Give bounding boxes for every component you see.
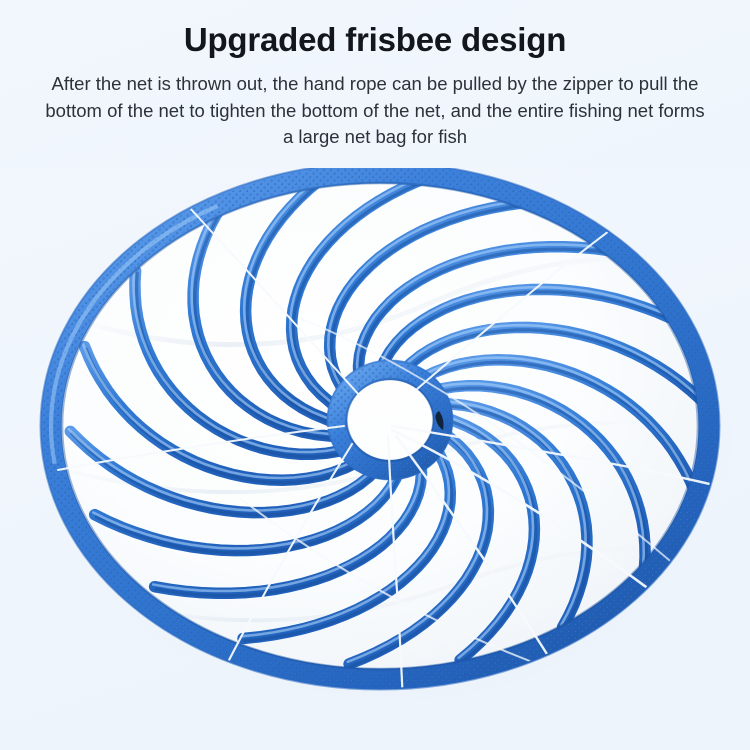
frisbee-illustration bbox=[0, 168, 750, 750]
description-paragraph: After the net is thrown out, the hand ro… bbox=[34, 71, 716, 151]
product-photo bbox=[0, 168, 750, 750]
text-block: Upgraded frisbee design After the net is… bbox=[0, 0, 750, 151]
page-title: Upgraded frisbee design bbox=[0, 20, 750, 60]
product-feature-image: Upgraded frisbee design After the net is… bbox=[0, 0, 750, 750]
